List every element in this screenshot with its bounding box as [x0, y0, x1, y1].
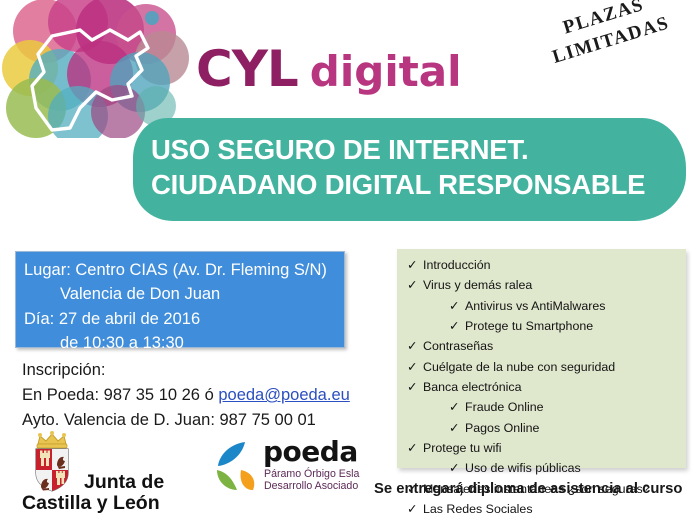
check-icon: ✓: [449, 397, 465, 417]
check-icon: ✓: [407, 357, 423, 377]
agenda-item-label: Banca electrónica: [423, 377, 522, 397]
coat-of-arms-icon: [28, 431, 84, 493]
check-icon: ✓: [449, 458, 465, 478]
agenda-list: ✓Introducción✓Virus y demás ralea✓Antivi…: [407, 255, 680, 519]
agenda-item-label: Protege tu Smartphone: [465, 316, 593, 336]
poeda-name: poeda: [263, 438, 358, 466]
course-title-banner: USO SEGURO DE INTERNET. CIUDADANO DIGITA…: [133, 118, 686, 221]
check-icon: ✓: [407, 377, 423, 397]
event-place: Lugar: Centro CIAS (Av. Dr. Fleming S/N): [24, 258, 336, 282]
check-icon: ✓: [407, 499, 423, 519]
agenda-item: ✓Antivirus vs AntiMalwares: [407, 296, 680, 316]
junta-line-1: Junta de: [84, 471, 164, 494]
poeda-subtitle-2: Desarrollo Asociado: [264, 480, 358, 493]
event-date: Día: 27 de abril de 2016: [24, 307, 336, 331]
diploma-note: Se entregará diploma de asistencia al cu…: [374, 481, 682, 497]
agenda-item-label: Cuélgate de la nube con seguridad: [423, 357, 615, 377]
wordmark-digital: digital: [310, 47, 462, 96]
junta-line-2: Castilla y León: [22, 492, 160, 515]
agenda-item-label: Fraude Online: [465, 397, 544, 417]
agenda-item-label: Contraseñas: [423, 336, 493, 356]
event-city: Valencia de Don Juan: [24, 282, 336, 306]
check-icon: ✓: [407, 255, 423, 275]
banner-line-1: USO SEGURO DE INTERNET.: [151, 132, 645, 167]
check-icon: ✓: [407, 336, 423, 356]
inscription-heading: Inscripción:: [22, 358, 350, 383]
inscription-ayto-line: Ayto. Valencia de D. Juan: 987 75 00 01: [22, 408, 350, 433]
poster-canvas: CYLdigital PLAZAS LIMITADAS USO SEGURO D…: [0, 0, 697, 523]
inscription-poeda-line: En Poeda: 987 35 10 26 ó poeda@poeda.eu: [22, 383, 350, 408]
agenda-item: ✓Fraude Online: [407, 397, 680, 417]
limited-seats-badge: PLAZAS LIMITADAS: [542, 0, 673, 71]
cyl-digital-wordmark: CYLdigital: [196, 44, 462, 94]
agenda-checklist-box: ✓Introducción✓Virus y demás ralea✓Antivi…: [397, 249, 686, 468]
check-icon: ✓: [407, 438, 423, 458]
check-icon: ✓: [407, 275, 423, 295]
agenda-item-label: Uso de wifis públicas: [465, 458, 581, 478]
agenda-item-label: Pagos Online: [465, 418, 539, 438]
agenda-item-label: Las Redes Sociales: [423, 499, 533, 519]
agenda-item: ✓Protege tu Smartphone: [407, 316, 680, 336]
event-details-box: Lugar: Centro CIAS (Av. Dr. Fleming S/N)…: [15, 251, 345, 348]
agenda-item: ✓Contraseñas: [407, 336, 680, 356]
inscription-poeda-label: En Poeda: 987 35 10 26 ó: [22, 386, 218, 404]
agenda-item: ✓Protege tu wifi: [407, 438, 680, 458]
poeda-logo: poeda Páramo Órbigo Esla Desarrollo Asoc…: [215, 436, 375, 498]
agenda-item: ✓Introducción: [407, 255, 680, 275]
check-icon: ✓: [449, 418, 465, 438]
poeda-mark-icon: [215, 440, 259, 492]
agenda-item: ✓Uso de wifis públicas: [407, 458, 680, 478]
wordmark-l: L: [267, 40, 298, 98]
agenda-item-label: Virus y demás ralea: [423, 275, 532, 295]
check-icon: ✓: [449, 296, 465, 316]
agenda-item: ✓Virus y demás ralea: [407, 275, 680, 295]
inscription-block: Inscripción: En Poeda: 987 35 10 26 ó po…: [22, 358, 350, 433]
check-icon: ✓: [449, 316, 465, 336]
agenda-item-label: Protege tu wifi: [423, 438, 502, 458]
agenda-item-label: Antivirus vs AntiMalwares: [465, 296, 605, 316]
poeda-email-link[interactable]: poeda@poeda.eu: [218, 386, 349, 404]
agenda-item-label: Introducción: [423, 255, 491, 275]
poeda-subtitle-1: Páramo Órbigo Esla: [264, 468, 359, 481]
event-time: de 10:30 a 13:30: [24, 331, 336, 355]
agenda-item: ✓Pagos Online: [407, 418, 680, 438]
agenda-item: ✓Banca electrónica: [407, 377, 680, 397]
banner-line-2: CIUDADANO DIGITAL RESPONSABLE: [151, 167, 645, 202]
agenda-item: ✓Cuélgate de la nube con seguridad: [407, 357, 680, 377]
banner-text: USO SEGURO DE INTERNET. CIUDADANO DIGITA…: [151, 132, 645, 203]
agenda-item: ✓Las Redes Sociales: [407, 499, 680, 519]
wordmark-y: Y: [232, 40, 267, 98]
wordmark-c: C: [196, 40, 232, 98]
junta-castilla-leon-logo: Junta de Castilla y León: [22, 431, 200, 515]
